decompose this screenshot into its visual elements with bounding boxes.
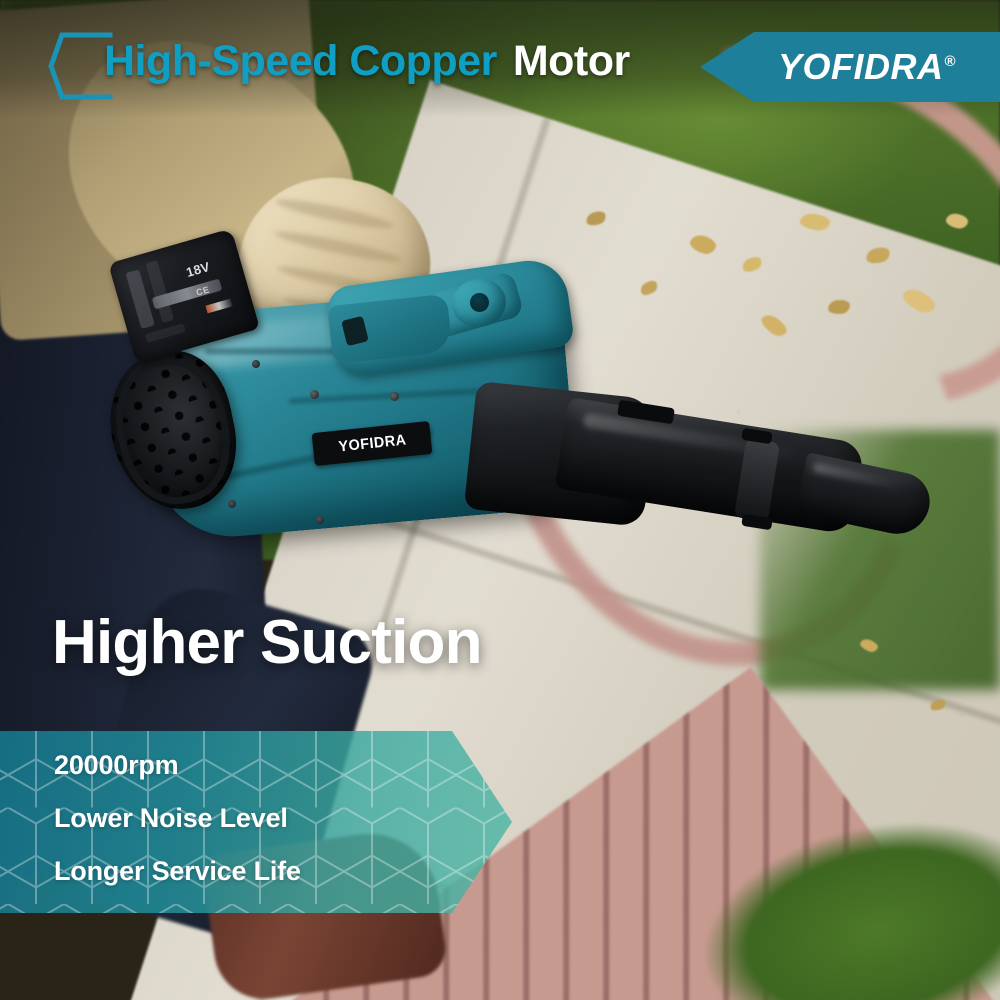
brand-logo: YOFIDRA® bbox=[778, 46, 956, 88]
header-banner: High-Speed CopperMotor YOFIDRA® bbox=[0, 0, 1000, 125]
housing-screw bbox=[390, 392, 399, 401]
housing-screw bbox=[316, 516, 324, 524]
registered-trademark-icon: ® bbox=[944, 53, 956, 70]
list-item: Lower Noise Level bbox=[54, 805, 484, 832]
brand-name: YOFIDRA bbox=[778, 46, 944, 87]
list-item: Longer Service Life bbox=[54, 858, 484, 885]
product-marketing-image: YOFIDRA 18V CE High-Speed CopperMotor bbox=[0, 0, 1000, 1000]
headline: Higher Suction bbox=[52, 612, 482, 674]
feature-list: 20000rpm Lower Noise Level Longer Servic… bbox=[54, 752, 484, 885]
hook-hole bbox=[470, 293, 489, 312]
housing-screw bbox=[310, 390, 319, 399]
page-title: High-Speed CopperMotor bbox=[104, 40, 630, 83]
title-highlight: High-Speed Copper bbox=[104, 37, 497, 85]
brand-logo-banner: YOFIDRA® bbox=[700, 32, 1000, 102]
badge-label: YOFIDRA bbox=[337, 431, 407, 455]
list-item: 20000rpm bbox=[54, 752, 484, 779]
title-plain: Motor bbox=[513, 37, 630, 85]
housing-screw bbox=[228, 500, 236, 508]
housing-screw bbox=[252, 360, 260, 368]
